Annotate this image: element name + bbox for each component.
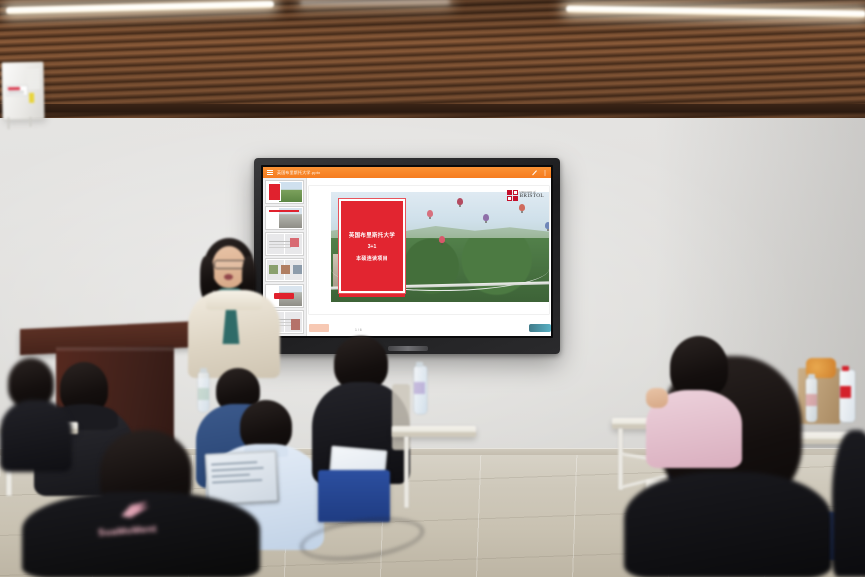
presentation-footer[interactable]: 1 / 6 xyxy=(309,320,549,334)
wooden-slat-ceiling xyxy=(0,0,865,118)
student-pink-fleece xyxy=(646,336,742,468)
slide-thumbnail-2[interactable] xyxy=(265,206,304,230)
water-bottle xyxy=(414,366,427,414)
thumb-image xyxy=(290,238,299,247)
water-bottle xyxy=(198,372,209,412)
bottle-cap xyxy=(200,368,207,373)
thumb-image xyxy=(291,319,300,330)
hot-air-balloon xyxy=(519,204,525,211)
heater-vent xyxy=(27,68,40,90)
desk-leg xyxy=(404,436,409,508)
slide-program: 3+1 xyxy=(368,244,376,250)
crest-square xyxy=(513,196,518,201)
presentation-toolbar[interactable]: 英国布里斯托大学.pptx xyxy=(263,167,551,178)
student-hair xyxy=(670,336,728,398)
presenter xyxy=(186,238,282,378)
slide-thumbnail-1[interactable] xyxy=(265,180,304,204)
heater-label xyxy=(6,85,28,96)
bottle-cap xyxy=(416,362,423,367)
student-hand xyxy=(646,388,668,408)
blue-classroom-chair xyxy=(318,470,390,522)
presentation-file-name: 英国布里斯托大学.pptx xyxy=(277,170,320,176)
hot-air-balloon xyxy=(439,236,445,243)
student-torso xyxy=(832,430,865,577)
student-far-right-edge xyxy=(832,430,865,577)
slide-page-indicator: 1 / 6 xyxy=(355,328,362,332)
slide-subtitle: 本硕连读项目 xyxy=(356,255,388,262)
thumb-red-bar xyxy=(269,210,299,212)
hot-air-balloon xyxy=(483,214,489,221)
heater-label-accent xyxy=(8,87,20,90)
logo-main-line: BRISTOL xyxy=(520,194,544,199)
slide-stage[interactable]: University of BRISTOL 英国布里斯托大学 3+1 本硕连读项… xyxy=(307,178,551,336)
slide-title-card: 英国布里斯托大学 3+1 本硕连读项目 xyxy=(339,199,405,293)
presentation-body: University of BRISTOL 英国布里斯托大学 3+1 本硕连读项… xyxy=(263,178,551,336)
thumb-photo xyxy=(279,182,302,202)
crest-square xyxy=(507,196,512,201)
thumb-image xyxy=(293,265,302,274)
thumb-image xyxy=(281,265,290,274)
more-vertical-icon[interactable] xyxy=(544,170,546,176)
panel-inner-bezel: 英国布里斯托大学.pptx xyxy=(261,165,553,338)
pencil-icon[interactable] xyxy=(533,170,539,176)
heater-warning-sticker xyxy=(29,93,34,103)
student-torso xyxy=(624,472,832,577)
heater-pipe xyxy=(29,117,31,127)
hot-air-balloon xyxy=(427,210,433,217)
heater-pipe xyxy=(7,117,9,129)
bristol-crest-icon xyxy=(507,190,518,201)
bristol-wordmark: University of BRISTOL xyxy=(520,191,544,199)
slide-headline: 英国布里斯托大学 xyxy=(349,231,395,239)
student-left-edge xyxy=(0,352,72,472)
crest-square xyxy=(507,190,512,195)
thumb-red-card xyxy=(268,183,281,201)
ceiling-edge xyxy=(0,104,865,118)
bottle-cap xyxy=(842,366,849,371)
cola-bottle xyxy=(840,370,855,422)
hot-air-balloon xyxy=(545,222,549,229)
hot-air-balloon xyxy=(457,198,463,205)
slideshow-button[interactable] xyxy=(309,324,329,332)
panel-status-indicator xyxy=(529,324,551,332)
crest-square xyxy=(513,190,518,195)
bottle-label xyxy=(840,386,851,398)
interactive-flat-panel[interactable]: 英国布里斯托大学.pptx xyxy=(254,158,560,354)
university-of-bristol-logo: University of BRISTOL xyxy=(507,190,544,201)
coat-collar xyxy=(206,290,262,310)
bottle-label xyxy=(198,388,209,400)
bottle-label xyxy=(414,382,425,394)
heater-label-lines xyxy=(8,91,24,92)
wall-mounted-water-heater xyxy=(1,62,44,121)
presenter-mouth xyxy=(224,274,233,280)
ceiling-shading xyxy=(0,0,865,118)
classroom-photo: 英国布里斯托大学.pptx xyxy=(0,0,865,577)
podium-edge xyxy=(56,347,174,351)
slide-accent-bar xyxy=(339,294,405,297)
panel-screen[interactable]: 英国布里斯托大学.pptx xyxy=(263,167,551,336)
hamburger-icon[interactable] xyxy=(267,170,273,175)
student-torso xyxy=(0,400,72,472)
current-slide: University of BRISTOL 英国布里斯托大学 3+1 本硕连读项… xyxy=(309,186,549,314)
